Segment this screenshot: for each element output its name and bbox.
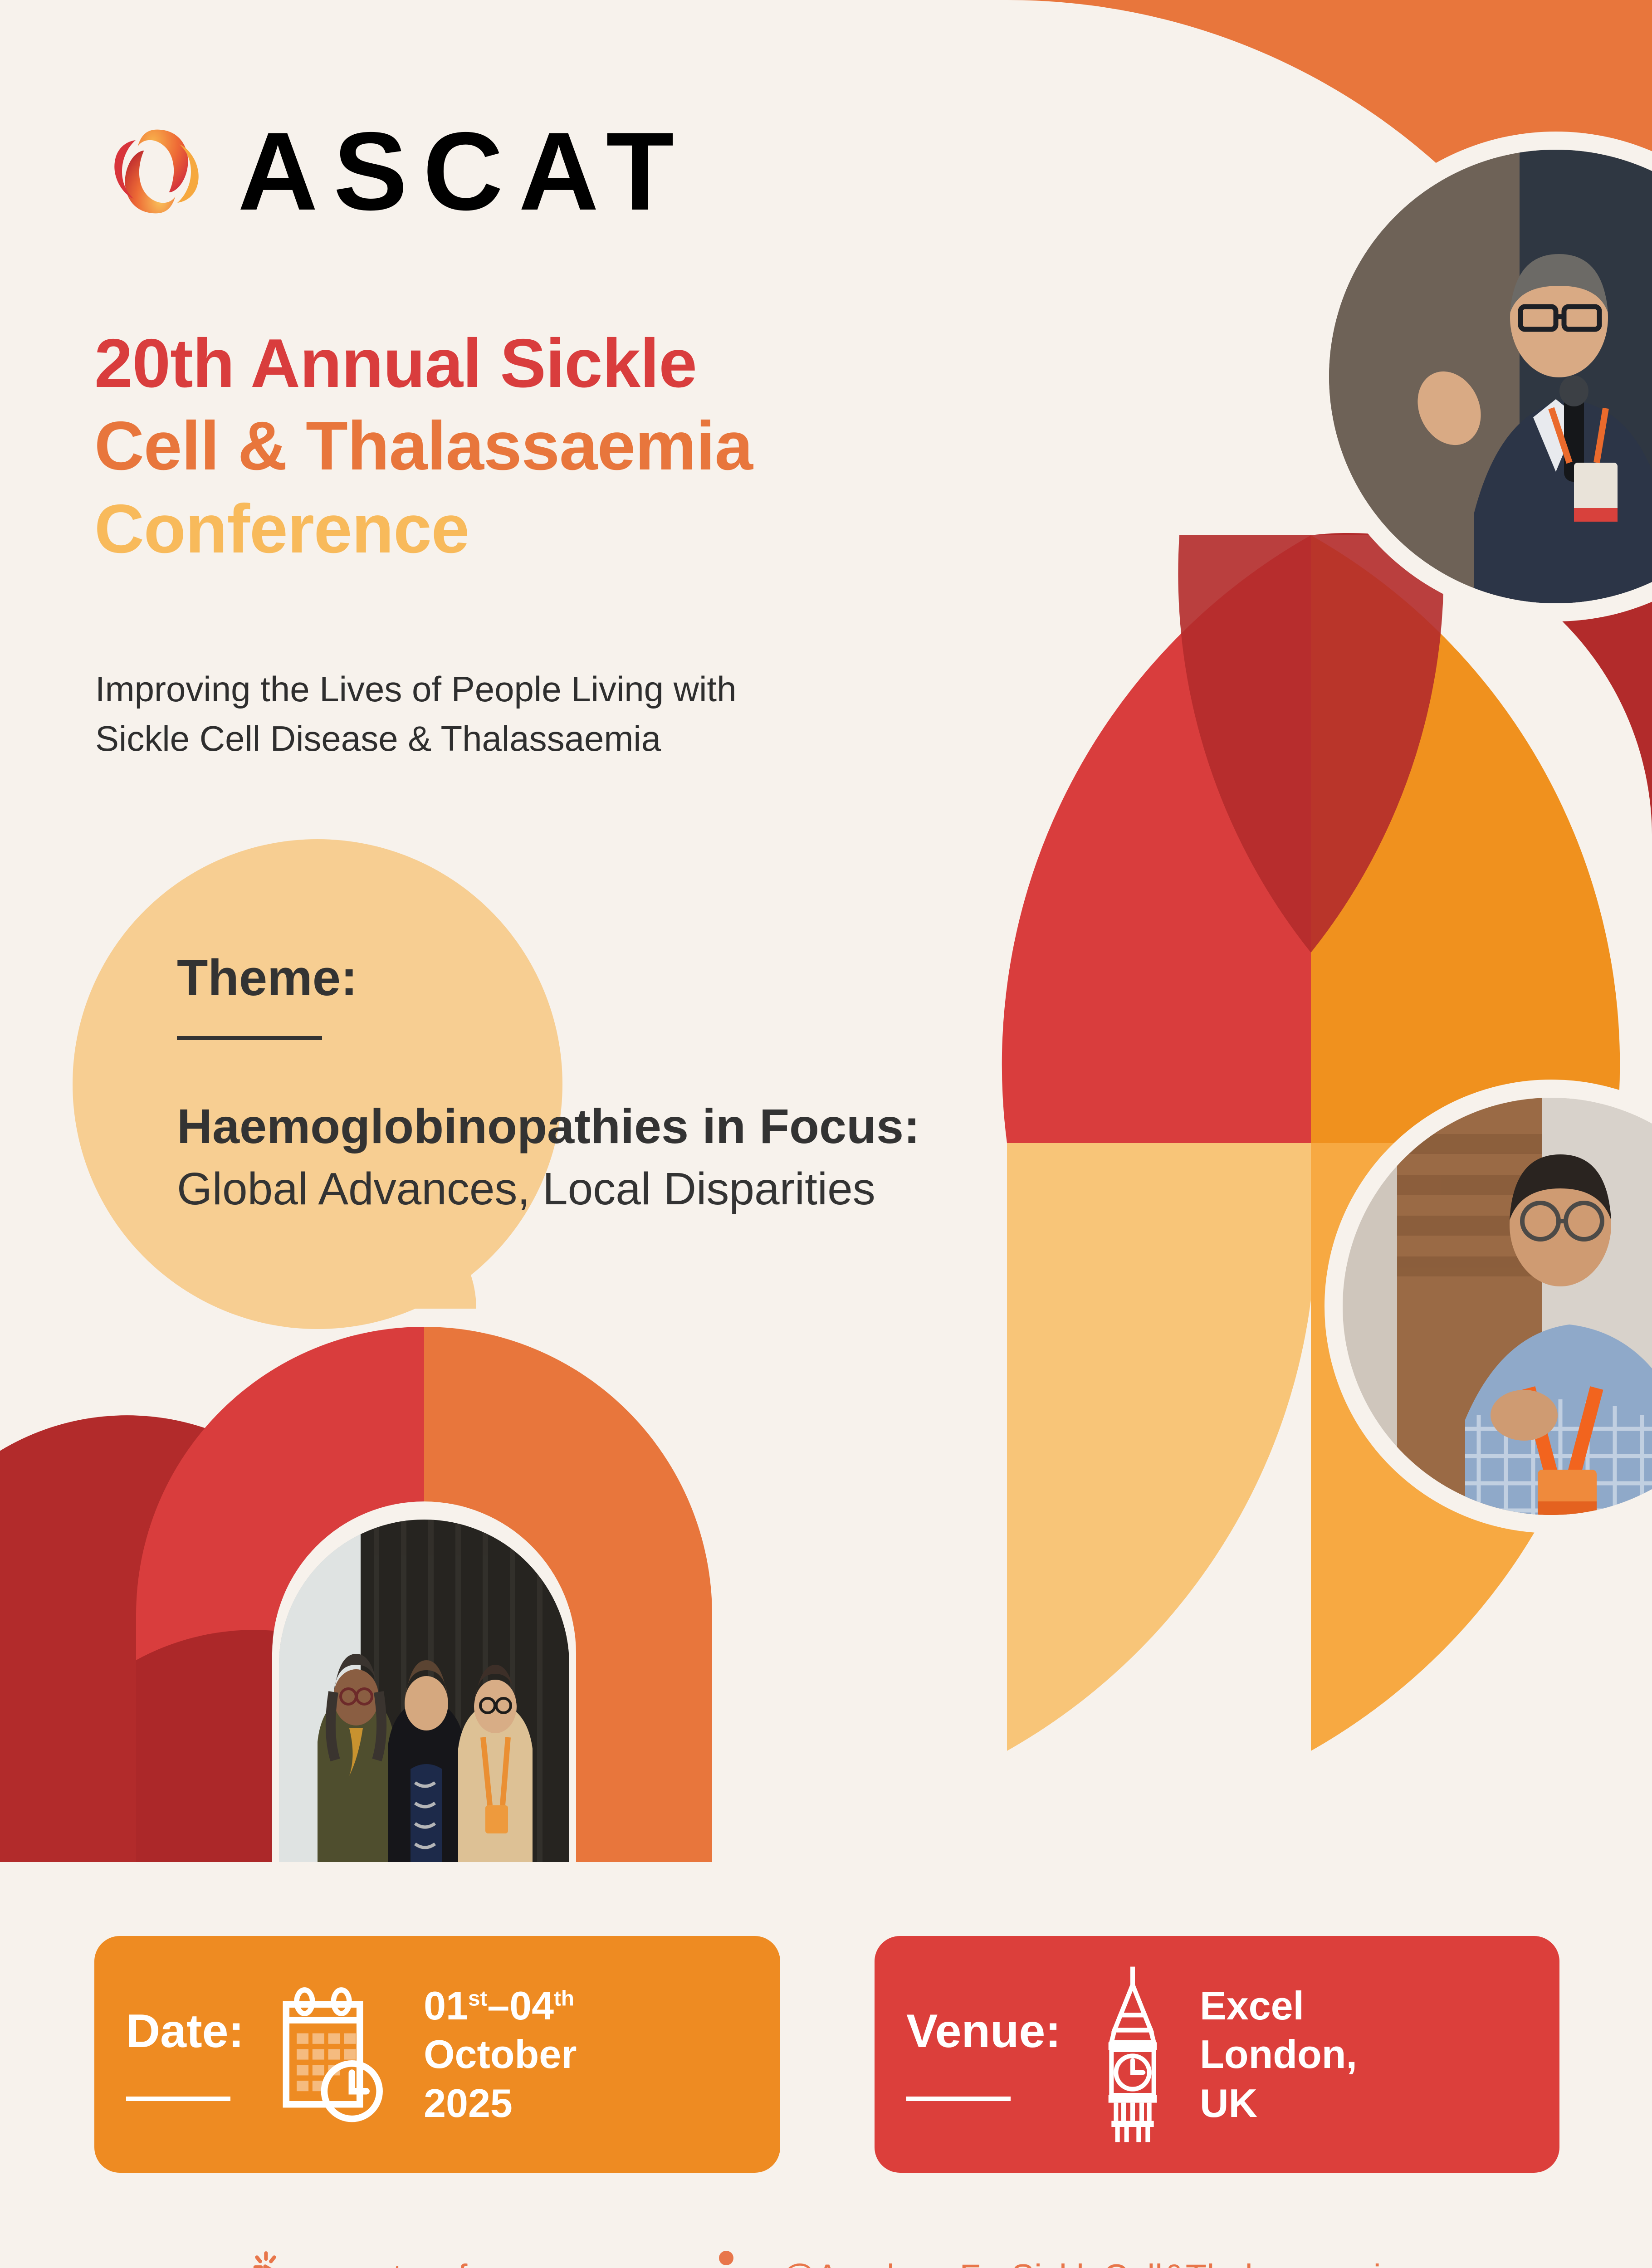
- date-value: 01st–04th October 2025: [424, 1981, 577, 2127]
- venue-label-group: Venue:: [906, 2008, 1061, 2101]
- date-label: Date:: [126, 2008, 244, 2055]
- brand-wordmark: ASCAT: [238, 116, 689, 227]
- theme-divider: [177, 1036, 322, 1040]
- theme-section: Theme: Haemoglobinopathies in Focus: Glo…: [177, 953, 1152, 1215]
- date-year: 2025: [424, 2079, 577, 2127]
- date-range-line: 01st–04th: [424, 1981, 577, 2030]
- date-day-end: –04: [487, 1983, 554, 2028]
- page-title: 20th Annual Sickle Cell & Thalassaemia C…: [94, 322, 753, 570]
- venue-value: Excel London, UK: [1200, 1981, 1357, 2127]
- subtitle-line-1: Improving the Lives of People Living wit…: [95, 665, 736, 714]
- subtitle-line-2: Sickle Cell Disease & Thalassaemia: [95, 714, 736, 763]
- venue-name: Excel: [1200, 1981, 1357, 2030]
- conference-poster: ASCAT 20th Annual Sickle Cell & Thalassa…: [0, 0, 1652, 2268]
- three-delegates-group-photo: [279, 1515, 569, 1873]
- theme-subline: Global Advances, Local Disparities: [177, 1163, 1152, 1215]
- title-line-1: 20th Annual Sickle: [94, 322, 753, 405]
- theme-label: Theme:: [177, 953, 1152, 1003]
- linkedin-link[interactable]: @AcademyForSickleCell&Thalassaemia: [719, 2250, 1400, 2268]
- venue-banner: Venue: Excel London, UK: [875, 1936, 1559, 2173]
- linkedin-text: @AcademyForSickleCell&Thalassaemia: [781, 2260, 1400, 2268]
- calendar-clock-icon: [270, 1980, 402, 2129]
- footer: ascatconferences.com @AcademyForSickleCe…: [0, 2250, 1652, 2268]
- venue-divider: [906, 2097, 1011, 2101]
- cursor-click-icon: [252, 2250, 302, 2268]
- big-ben-icon: [1087, 1964, 1178, 2145]
- date-divider: [126, 2097, 230, 2101]
- date-month: October: [424, 2030, 577, 2078]
- theme-headline: Haemoglobinopathies in Focus:: [177, 1099, 1152, 1154]
- date-label-group: Date:: [126, 2008, 244, 2101]
- date-day-start: 01: [424, 1983, 468, 2028]
- ascat-swirl-logo-icon: [104, 119, 209, 224]
- venue-label: Venue:: [906, 2008, 1061, 2055]
- title-line-3: Conference: [94, 488, 753, 570]
- website-text: ascatconferences.com: [320, 2260, 665, 2268]
- date-banner: Date: 01st–04th October 2025: [94, 1936, 780, 2173]
- date-day-end-suffix: th: [554, 1987, 574, 2011]
- website-link[interactable]: ascatconferences.com: [252, 2250, 665, 2268]
- venue-city: London,: [1200, 2030, 1357, 2078]
- brand-logo: ASCAT: [104, 116, 689, 227]
- page-subtitle: Improving the Lives of People Living wit…: [95, 665, 736, 763]
- venue-country: UK: [1200, 2079, 1357, 2127]
- title-line-2: Cell & Thalassaemia: [94, 405, 753, 487]
- linkedin-icon: [719, 2250, 762, 2268]
- date-day-start-suffix: st: [468, 1987, 487, 2011]
